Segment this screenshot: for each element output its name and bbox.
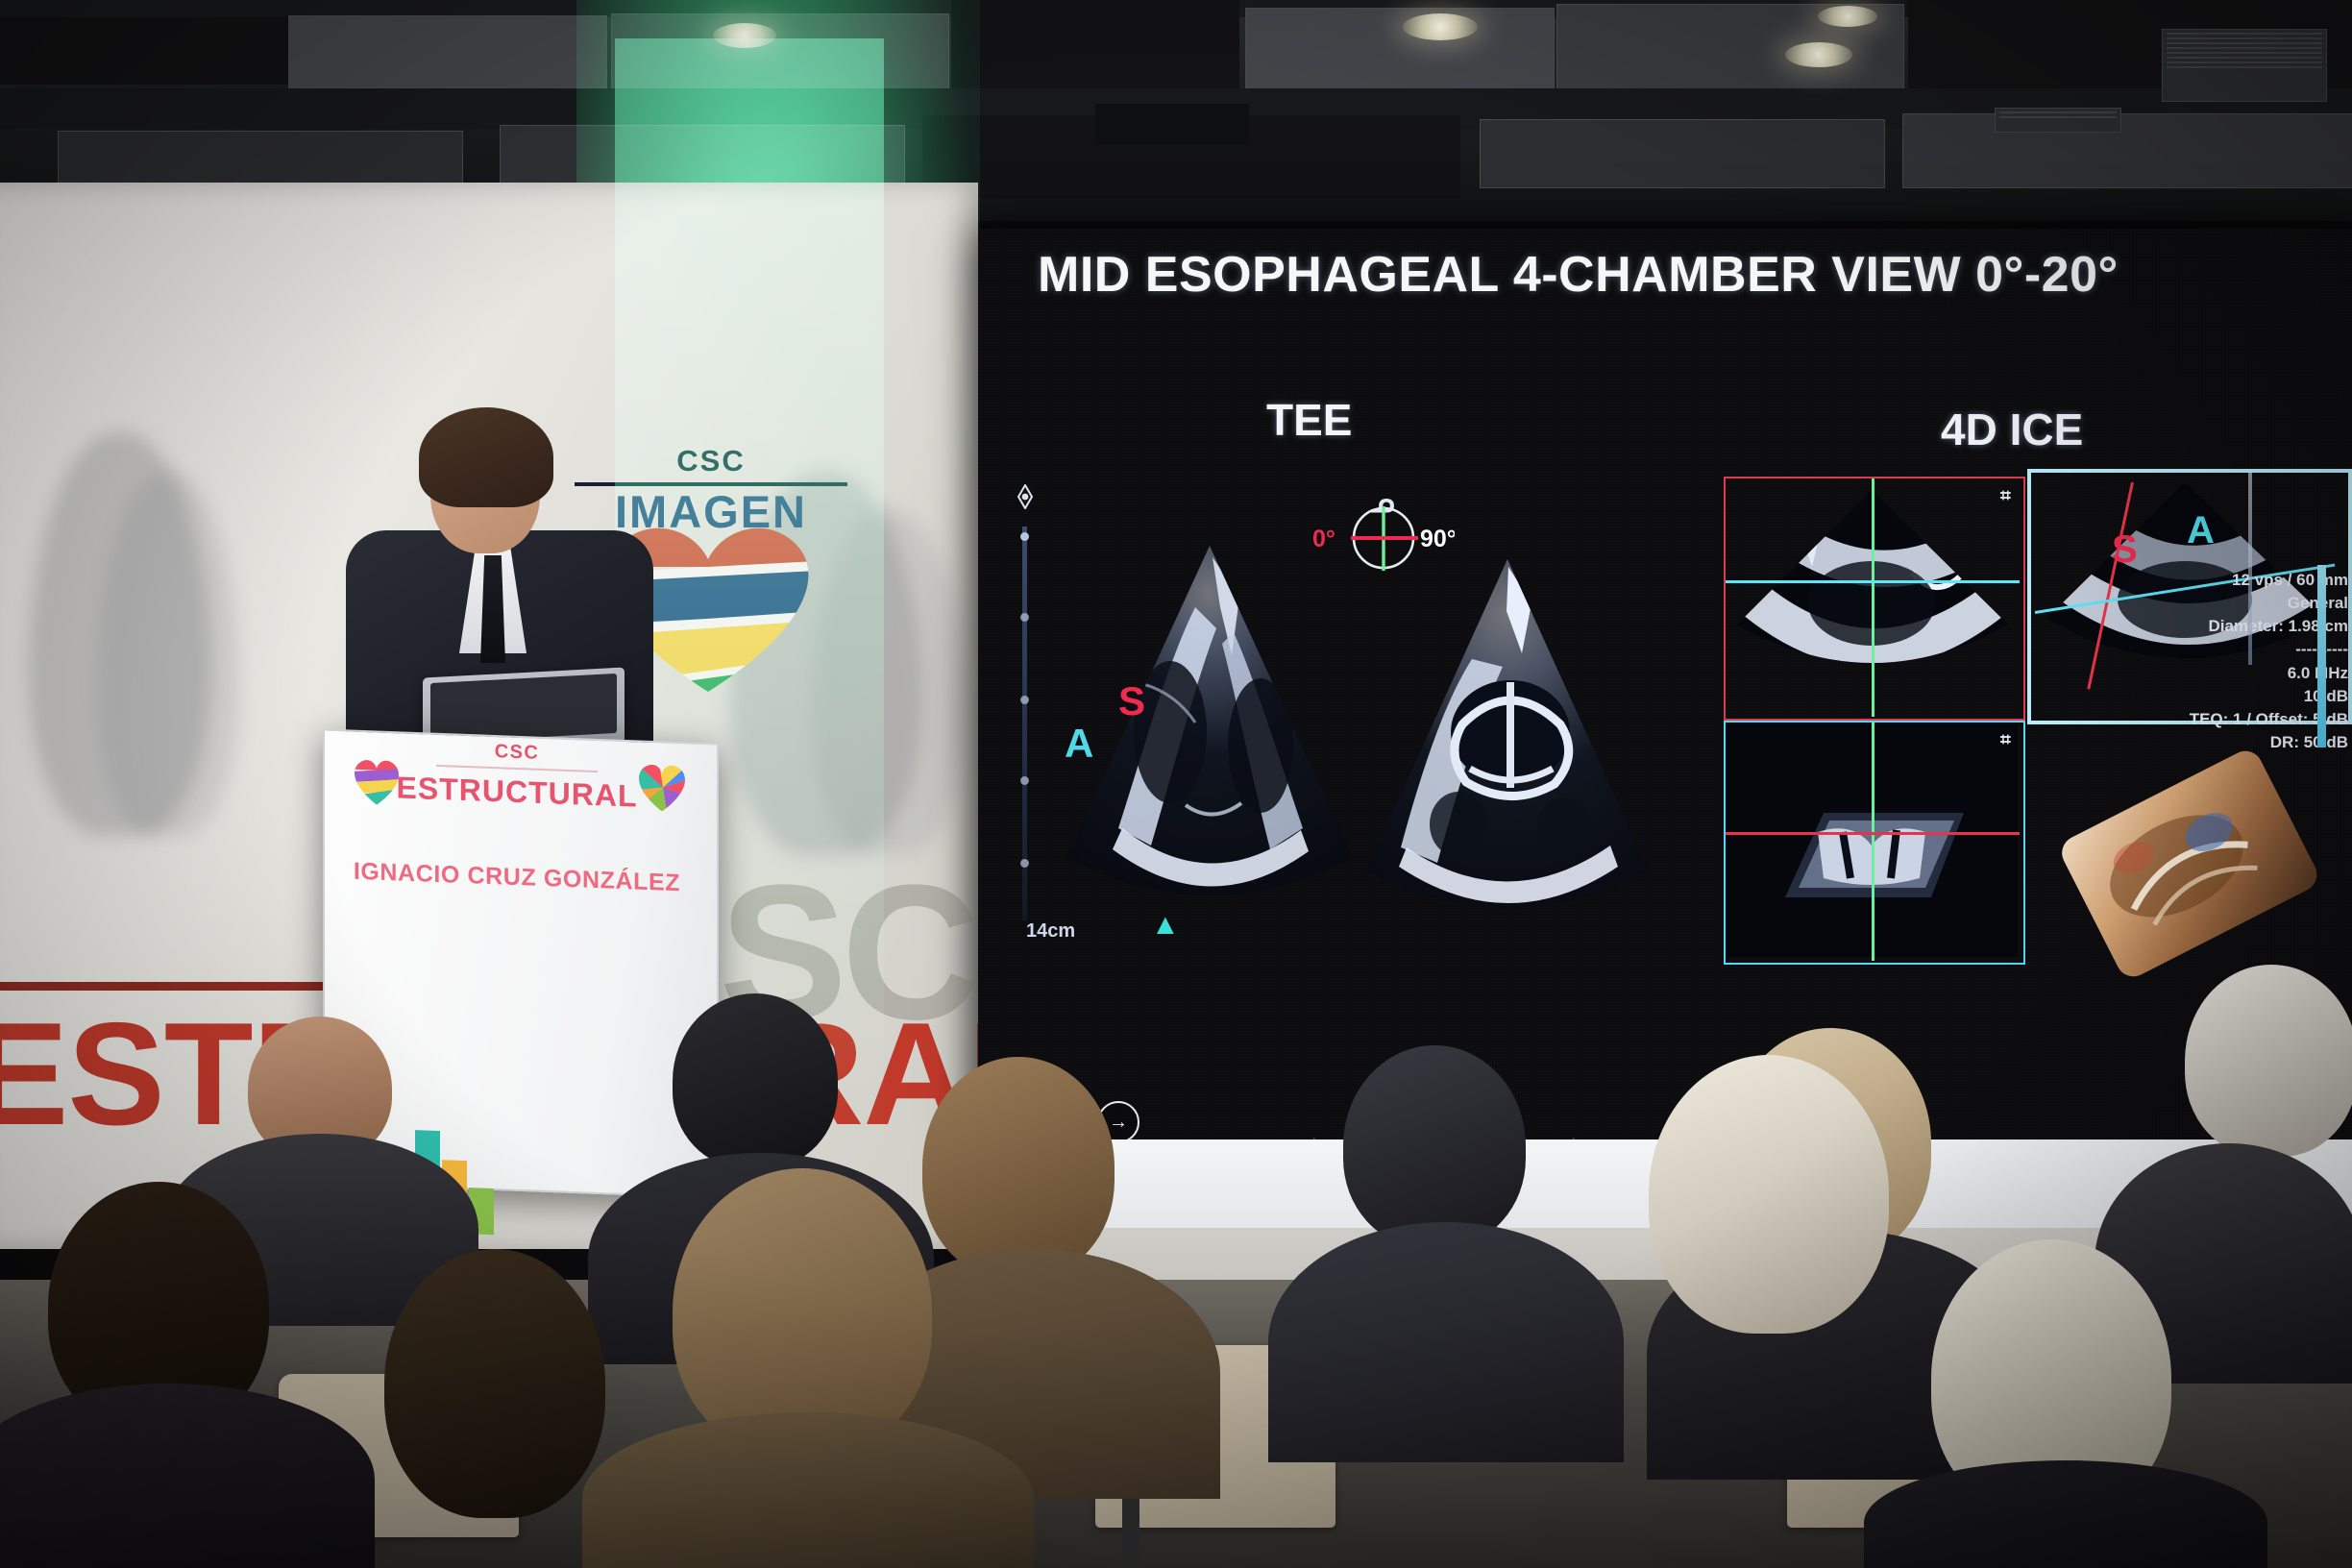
ice-image-bottom-right-3d (2033, 744, 2350, 984)
depth-tick (1020, 776, 1029, 785)
slide-title: MID ESOPHAGEAL 4-CHAMBER VIEW 0°-20° (1038, 246, 2119, 304)
tee-annotation-septal: S (1118, 678, 1145, 724)
ice-annotation-anterior: A (2187, 509, 2215, 552)
ice-parameter-readout: 12 vps / 60 mm General Diameter: 1.98 cm… (2137, 569, 2348, 754)
ceiling-light (1785, 42, 1852, 67)
panel-label-4d-ice: 4D ICE (1941, 404, 2083, 455)
focus-diamond-icon (1013, 484, 1038, 509)
audience-head (1343, 1045, 1526, 1247)
speaker-hair (419, 407, 553, 507)
speaker-tie (480, 555, 505, 663)
ceiling-vent (1995, 108, 2121, 133)
ice-param: 10 dB (2137, 685, 2348, 708)
podium-heart-icon-left (350, 757, 404, 807)
depth-tick (1020, 532, 1029, 541)
depth-tick (1020, 859, 1029, 868)
tee-sector-left (1051, 540, 1368, 924)
resize-handle-icon[interactable]: ⌗ (2000, 730, 2011, 751)
tee-panel: ᓇ 0° 90° (1005, 469, 1668, 1132)
ice-param: 12 vps / 60 mm (2137, 569, 2348, 592)
audience-head (922, 1057, 1115, 1278)
backdrop-logo-csc: CSC (557, 444, 865, 478)
audience-head (673, 993, 838, 1168)
tee-depth-label: 14cm (1026, 920, 1075, 943)
ice-param: TEQ: 1 / Offset: 5 dB (2137, 708, 2348, 731)
ice-param: Diameter: 1.98 cm (2137, 615, 2348, 638)
ice-param: ----4---- (2137, 638, 2348, 661)
tee-depth-chevron-icon: ▲ (1151, 909, 1180, 942)
audience-head (2185, 965, 2352, 1157)
projection-screen: MID ESOPHAGEAL 4-CHAMBER VIEW 0°-20° TEE… (978, 229, 2352, 1228)
ice-param: 6.0 MHz (2137, 662, 2348, 685)
svg-text:90°: 90° (1420, 526, 1455, 552)
audience-head (1649, 1055, 1889, 1334)
tee-sector-right (1349, 553, 1666, 938)
audience-shoulders (1268, 1222, 1624, 1462)
audience-head (384, 1249, 605, 1518)
ice-scale-line (2248, 473, 2252, 665)
podium-speaker-name: IGNACIO CRUZ GONZÁLEZ (323, 856, 711, 898)
photo-stage: CSC IMAGEN CSC ESTRUCTURAL (0, 0, 2352, 1568)
ceiling-light (1403, 13, 1478, 40)
laptop-screen (430, 674, 617, 743)
ice-param: DR: 50 dB (2137, 731, 2348, 754)
ice-annotation-septal: S (2112, 528, 2138, 572)
depth-tick (1020, 613, 1029, 622)
ceiling-light (713, 23, 776, 48)
tee-annotation-anterior: A (1065, 721, 1093, 767)
depth-tick (1020, 696, 1029, 704)
panel-label-tee: TEE (1266, 394, 1352, 446)
podium-heart-icon-right (634, 761, 690, 813)
ice-param: General (2137, 592, 2348, 615)
resize-handle-icon[interactable]: ⌗ (2000, 486, 2011, 507)
ceiling-light (1818, 6, 1877, 27)
ceiling-vent (2162, 29, 2327, 102)
podium-sign: CSC ESTRUCTURAL IGNACIO CRUZ GONZÁLEZ (323, 735, 711, 942)
ice-gain-slider[interactable] (2317, 565, 2326, 747)
